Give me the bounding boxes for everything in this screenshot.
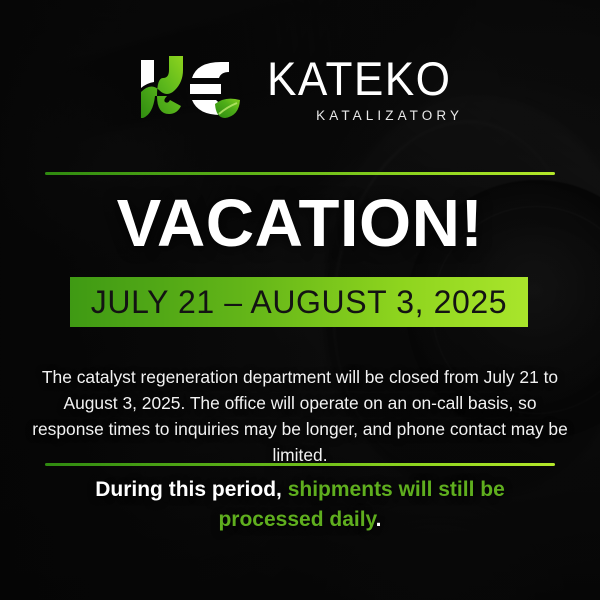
date-range-banner: JULY 21 – AUGUST 3, 2025 bbox=[70, 277, 528, 327]
divider-top bbox=[45, 172, 555, 175]
brand-logo-lockup: KATEKO KATALIZATORY bbox=[0, 52, 600, 126]
brand-name: KATEKO bbox=[267, 55, 451, 102]
footer-period: . bbox=[376, 508, 382, 531]
divider-bottom bbox=[45, 463, 555, 466]
brand-subtitle: KATALIZATORY bbox=[316, 109, 463, 123]
footer-note: During this period, shipments will still… bbox=[40, 475, 560, 535]
kateko-ke-leaf-logo-icon bbox=[137, 52, 245, 126]
date-range-text: JULY 21 – AUGUST 3, 2025 bbox=[91, 284, 507, 321]
body-paragraph: The catalyst regeneration department wil… bbox=[30, 364, 570, 468]
page-title: VACATION! bbox=[0, 190, 600, 257]
footer-lead-text: During this period, bbox=[95, 478, 288, 501]
vacation-announcement-poster: KATEKO KATALIZATORY VACATION! JULY 21 – … bbox=[0, 0, 600, 600]
